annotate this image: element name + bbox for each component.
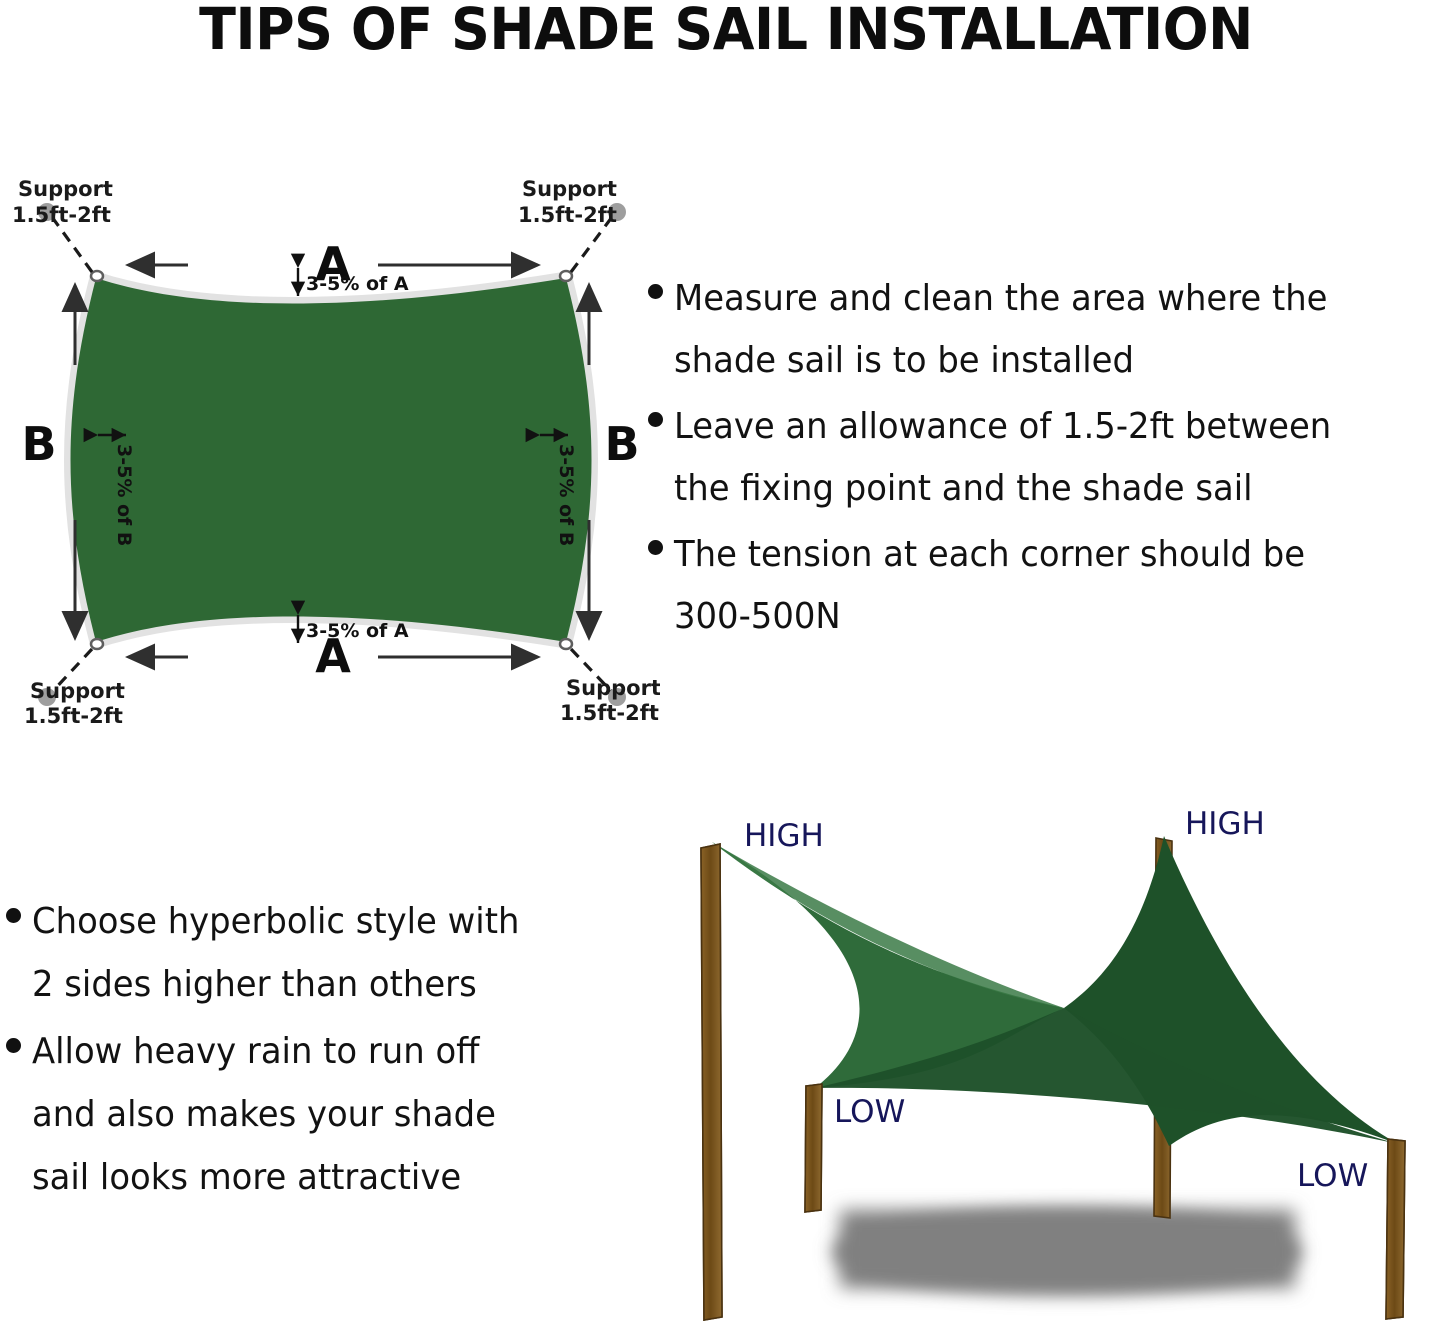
support-label-bottom-right-line1: Support	[566, 676, 660, 700]
label-low-left: LOW	[834, 1094, 905, 1130]
label-low-right: LOW	[1297, 1158, 1368, 1194]
shade-sail-shape	[71, 278, 592, 642]
tip-text: Leave an allowance of 1.5-2ft between th…	[674, 396, 1331, 520]
post-low-right-front	[1386, 1139, 1405, 1319]
support-label-bottom-left-line2: 1.5ft-2ft	[24, 704, 123, 728]
bullet-icon	[648, 268, 674, 299]
tip-text: Measure and clean the area where the sha…	[674, 268, 1328, 392]
hyperbolic-sail-illustration: HIGH HIGH LOW LOW	[672, 786, 1452, 1325]
ground-shadow-block	[840, 1210, 1295, 1288]
post-low-left-front	[805, 1084, 822, 1212]
support-label-top-right-line2: 1.5ft-2ft	[518, 203, 617, 227]
style-tips-list: Choose hyperbolic style with 2 sides hig…	[6, 890, 636, 1213]
dimension-label-b-left: B	[21, 417, 56, 471]
bullet-icon	[6, 1020, 32, 1053]
support-label-bottom-right-line2: 1.5ft-2ft	[560, 701, 659, 725]
support-label-bottom-left-line1: Support	[30, 679, 125, 703]
grommet-bottom-left	[91, 639, 103, 649]
style-tip-text: Choose hyperbolic style with 2 sides hig…	[32, 890, 519, 1016]
rectangular-sail-diagram: Support 1.5ft-2ft Support 1.5ft-2ft Supp…	[0, 160, 660, 740]
installation-tips-list: Measure and clean the area where the sha…	[648, 268, 1452, 652]
list-item: The tension at each corner should be 300…	[648, 524, 1452, 648]
sag-note-top: 3-5% of A	[306, 273, 409, 295]
sag-note-bottom: 3-5% of A	[306, 620, 409, 642]
label-high-right: HIGH	[1185, 806, 1265, 842]
bullet-icon	[648, 396, 674, 427]
dimension-label-b-right: B	[604, 417, 639, 471]
support-label-top-left-line2: 1.5ft-2ft	[12, 203, 111, 227]
sag-note-right: 3-5% of B	[555, 444, 577, 546]
support-label-top-left-line1: Support	[18, 177, 113, 201]
style-tip-text: Allow heavy rain to run off and also mak…	[32, 1020, 496, 1209]
grommet-top-right	[560, 271, 572, 281]
list-item: Allow heavy rain to run off and also mak…	[6, 1020, 636, 1209]
post-high-left-front	[701, 844, 722, 1320]
list-item: Choose hyperbolic style with 2 sides hig…	[6, 890, 636, 1016]
page-title: TIPS OF SHADE SAIL INSTALLATION	[51, 0, 1401, 61]
bullet-icon	[648, 524, 674, 555]
bullet-icon	[6, 890, 32, 923]
list-item: Measure and clean the area where the sha…	[648, 268, 1452, 392]
grommet-bottom-right	[560, 639, 572, 649]
sag-note-left: 3-5% of B	[113, 444, 135, 546]
support-label-top-right-line1: Support	[522, 177, 617, 201]
grommet-top-left	[91, 271, 103, 281]
label-high-left: HIGH	[744, 818, 824, 854]
list-item: Leave an allowance of 1.5-2ft between th…	[648, 396, 1452, 520]
tip-text: The tension at each corner should be 300…	[674, 524, 1305, 648]
